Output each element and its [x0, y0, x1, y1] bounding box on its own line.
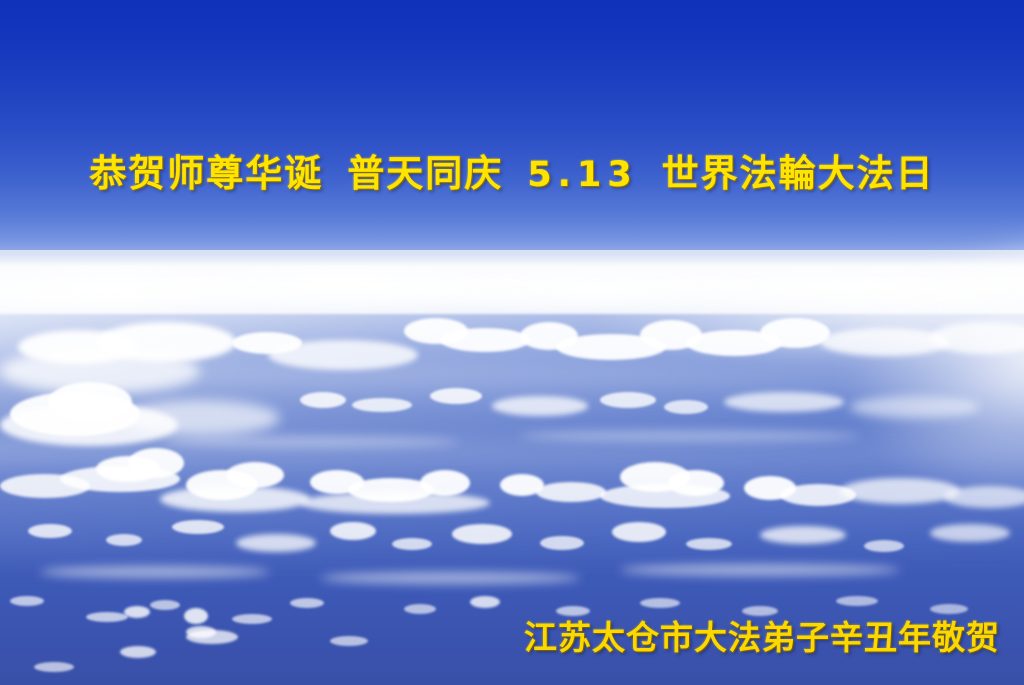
headline-segment-3: 世界法輪大法日 [662, 152, 935, 195]
horizon-cloud-bank [0, 252, 1024, 314]
sky-background [0, 0, 1024, 272]
headline-date: 5.13 [527, 155, 637, 195]
headline-segment-2: 普天同庆 [347, 152, 503, 195]
headline-segment-1: 恭贺师尊华诞 [89, 152, 323, 195]
headline-text: 恭贺师尊华诞普天同庆5.13世界法輪大法日 [0, 152, 1024, 197]
signature-text: 江苏太仓市大法弟子辛丑年敬贺 [524, 618, 1000, 658]
greeting-poster: 恭贺师尊华诞普天同庆5.13世界法輪大法日 江苏太仓市大法弟子辛丑年敬贺 [0, 0, 1024, 685]
